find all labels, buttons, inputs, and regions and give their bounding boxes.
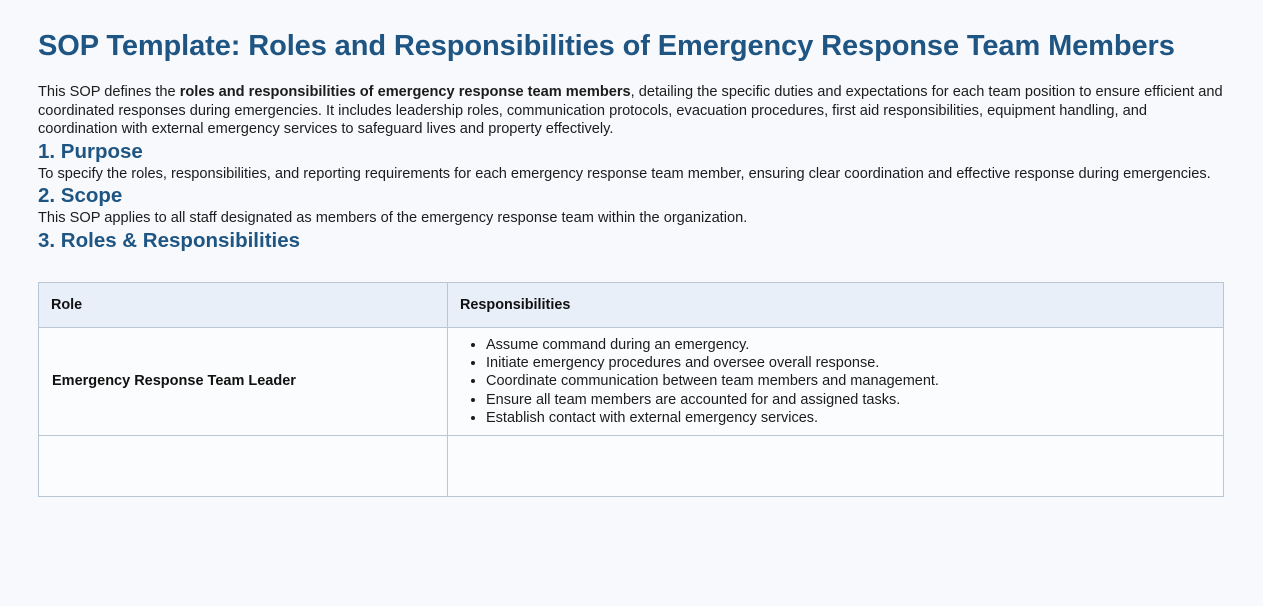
list-item: Assume command during an emergency. <box>486 336 1211 354</box>
responsibilities-cell <box>448 435 1224 496</box>
table-header-row: Role Responsibilities <box>39 282 1224 327</box>
table-header-role: Role <box>39 282 448 327</box>
list-item: Establish contact with external emergenc… <box>486 409 1211 427</box>
responsibilities-list: Assume command during an emergency. Init… <box>458 336 1211 427</box>
section-body-scope: This SOP applies to all staff designated… <box>38 209 1223 228</box>
roles-responsibilities-table: Role Responsibilities Emergency Response… <box>38 282 1224 497</box>
list-item: Ensure all team members are accounted fo… <box>486 391 1211 409</box>
table-row: Emergency Response Team Leader Assume co… <box>39 327 1224 435</box>
table-row <box>39 435 1224 496</box>
section-body-purpose: To specify the roles, responsibilities, … <box>38 165 1223 184</box>
table-head: Role Responsibilities <box>39 282 1224 327</box>
intro-lead-text: This SOP defines the <box>38 84 180 100</box>
table-header-responsibilities: Responsibilities <box>448 282 1224 327</box>
section-heading-purpose: 1. Purpose <box>38 139 1223 165</box>
section-heading-scope: 2. Scope <box>38 183 1223 209</box>
page-title: SOP Template: Roles and Responsibilities… <box>38 28 1198 65</box>
table-body: Emergency Response Team Leader Assume co… <box>39 327 1224 496</box>
role-name-cell <box>39 435 448 496</box>
document-page: SOP Template: Roles and Responsibilities… <box>0 0 1263 497</box>
list-item: Initiate emergency procedures and overse… <box>486 354 1211 372</box>
intro-bold-text: roles and responsibilities of emergency … <box>180 84 631 100</box>
intro-paragraph: This SOP defines the roles and responsib… <box>38 83 1223 139</box>
list-item: Coordinate communication between team me… <box>486 372 1211 390</box>
role-name-cell: Emergency Response Team Leader <box>39 327 448 435</box>
responsibilities-cell: Assume command during an emergency. Init… <box>448 327 1224 435</box>
section-heading-roles: 3. Roles & Responsibilities <box>38 228 1223 254</box>
